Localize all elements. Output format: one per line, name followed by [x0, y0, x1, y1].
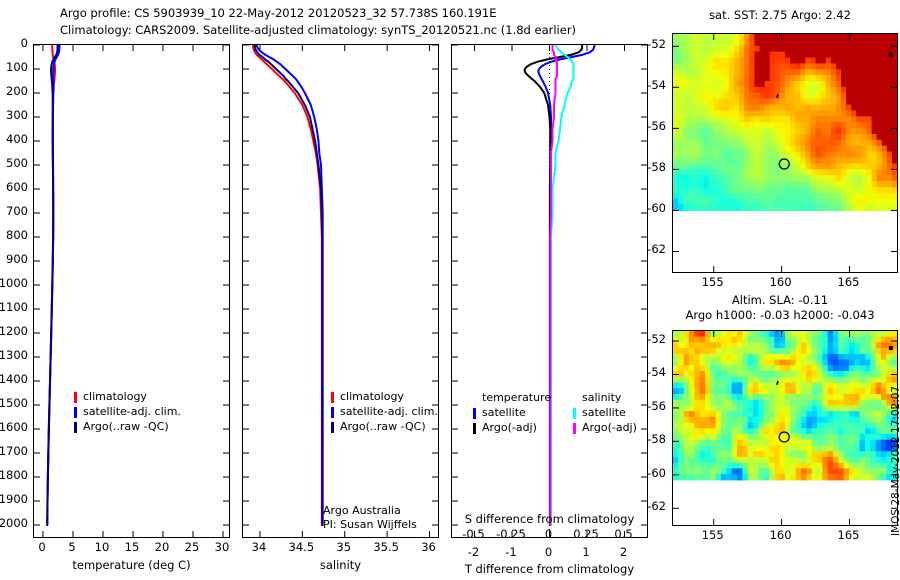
axis-tick-label: -0.5 [462, 527, 484, 541]
axis-tick-label: -2 [468, 545, 479, 559]
difference-temperature-legend-item: Argo(-adj) [473, 421, 551, 436]
legend-label: Argo(-adj) [482, 421, 537, 434]
sst-map-yaxis-ticklabels: -52-54-56-58-60-62 [636, 33, 670, 273]
page-title-line2: Climatology: CARS2009. Satellite-adjuste… [60, 23, 576, 37]
axis-tick-label: 160 [770, 275, 792, 289]
temperature-xaxis-ticklabels: 051015202530 [33, 540, 230, 556]
sla-map-lat-tick: -62 [647, 499, 666, 513]
legend-label: climatology [340, 390, 404, 403]
difference-salinity-legend-item: Argo(-adj) [573, 421, 621, 436]
axis-tick-label: 30 [215, 540, 230, 554]
axis-tick-label: 35 [336, 540, 351, 554]
depth-tick-label: 1300 [0, 348, 28, 362]
axis-tick-label: 0.5 [614, 527, 632, 541]
sst-map-lat-tick: -56 [647, 119, 666, 133]
sla-map-lat-tick: -52 [647, 332, 666, 346]
depth-tick-label: 1100 [0, 300, 28, 314]
salinity-profile-plot [243, 45, 438, 537]
legend-color-swatch [473, 423, 476, 434]
depth-tick-label: 1800 [0, 468, 28, 482]
difference-top-xaxis-label: S difference from climatology [441, 512, 658, 526]
depth-tick-label: 2000 [0, 516, 28, 530]
legend-color-swatch [74, 422, 77, 433]
depth-tick-label: 1700 [0, 444, 28, 458]
depth-tick-label: 1400 [0, 372, 28, 386]
axis-tick-label: 2 [620, 545, 627, 559]
legend-label: Argo(-adj) [582, 421, 637, 434]
difference-temperature-legend-item: satellite [473, 406, 551, 421]
sst-map-xaxis-ticklabels: 155160165 [672, 275, 898, 291]
sst-map-lat-tick: -52 [647, 37, 666, 51]
axis-tick-label: 25 [185, 540, 200, 554]
legend-color-swatch [473, 408, 476, 419]
sst-map-lat-tick: -62 [647, 242, 666, 256]
axis-tick-label: 1 [582, 545, 589, 559]
sla-map-title-line1: Altim. SLA: -0.11 [660, 293, 900, 307]
depth-tick-label: 200 [6, 84, 28, 98]
depth-tick-label: 1000 [0, 276, 28, 290]
axis-tick-label: 20 [155, 540, 170, 554]
legend-label: satellite [582, 406, 626, 419]
difference-bottom-xaxis-ticklabels: -2-1012 [451, 545, 648, 559]
temperature-profile-plot [34, 45, 229, 537]
difference-legend-salinity-header: salinity [582, 391, 621, 406]
page-title-line1: Argo profile: CS 5903939_10 22-May-2012 … [60, 6, 497, 20]
axis-tick-label: 160 [770, 528, 792, 542]
depth-axis-ticklabels: 0100200300400500600700800900100011001200… [0, 0, 32, 580]
axis-tick-label: 155 [702, 528, 724, 542]
sst-map-panel [672, 33, 898, 273]
temperature-profile-panel [33, 44, 230, 538]
legend-label: satellite [482, 406, 526, 419]
sla-map-lat-tick: -56 [647, 399, 666, 413]
axis-tick-label: 0 [38, 540, 45, 554]
sst-map-plot [673, 34, 897, 272]
sla-map-yaxis-ticklabels: -52-54-56-58-60-62 [636, 330, 670, 526]
depth-tick-label: 1900 [0, 492, 28, 506]
axis-tick-label: -0.25 [496, 527, 526, 541]
depth-tick-label: 500 [6, 156, 28, 170]
legend-label: Argo(..raw -QC) [340, 420, 426, 433]
imos-timestamp: IMOS 28-May-2012 17:02:07 [890, 386, 900, 536]
difference-salinity-legend-item: satellite [573, 406, 621, 421]
axis-tick-label: 36 [421, 540, 436, 554]
axis-tick-label: 165 [838, 275, 860, 289]
sla-map-lat-tick: -60 [647, 466, 666, 480]
legend-color-swatch [331, 407, 334, 418]
sla-map-xaxis-ticklabels: 155160165 [672, 528, 898, 544]
depth-tick-label: 1500 [0, 396, 28, 410]
axis-tick-label: 15 [125, 540, 140, 554]
axis-tick-label: 10 [95, 540, 110, 554]
depth-tick-label: 1600 [0, 420, 28, 434]
difference-profile-panel [451, 44, 648, 538]
difference-temperature-legend: temperaturesatelliteArgo(-adj) [473, 391, 551, 436]
sla-map-panel [672, 330, 898, 526]
legend-color-swatch [74, 407, 77, 418]
sst-map-title: sat. SST: 2.75 Argo: 2.42 [660, 8, 900, 22]
legend-label: satellite-adj. clim. [340, 405, 438, 418]
sla-map-plot [673, 331, 897, 525]
salinity-xaxis-ticklabels: 3434.53535.536 [242, 540, 439, 556]
legend-color-swatch [74, 392, 77, 403]
temperature-xaxis-label: temperature (deg C) [33, 558, 230, 572]
depth-tick-label: 600 [6, 180, 28, 194]
axis-tick-label: 0 [545, 545, 552, 559]
axis-tick-label: 155 [702, 275, 724, 289]
depth-tick-label: 100 [6, 60, 28, 74]
axis-tick-label: 34 [252, 540, 267, 554]
difference-profile-plot [452, 45, 647, 537]
sst-map-lat-tick: -60 [647, 201, 666, 215]
credit-argo-australia: Argo Australia [323, 504, 401, 517]
salinity-xaxis-label: salinity [242, 558, 439, 572]
sla-map-lat-tick: -58 [647, 432, 666, 446]
axis-tick-label: 35.5 [373, 540, 399, 554]
sla-map-title-line2: Argo h1000: -0.03 h2000: -0.043 [655, 308, 900, 322]
depth-tick-label: 0 [21, 36, 28, 50]
salinity-profile-panel [242, 44, 439, 538]
depth-tick-label: 300 [6, 108, 28, 122]
difference-top-xaxis-ticklabels: -0.5-0.2500.250.5 [451, 527, 648, 541]
depth-tick-label: 900 [6, 252, 28, 266]
legend-color-swatch [331, 422, 334, 433]
sla-map-lat-tick: -54 [647, 365, 666, 379]
depth-tick-label: 700 [6, 204, 28, 218]
legend-label: satellite-adj. clim. [83, 405, 181, 418]
legend-color-swatch [331, 392, 334, 403]
legend-color-swatch [573, 423, 576, 434]
legend-color-swatch [573, 408, 576, 419]
axis-tick-label: 165 [838, 528, 860, 542]
sst-map-lat-tick: -54 [647, 78, 666, 92]
axis-tick-label: 34.5 [289, 540, 315, 554]
depth-tick-label: 1200 [0, 324, 28, 338]
depth-tick-label: 800 [6, 228, 28, 242]
difference-legend-temperature-header: temperature [482, 391, 551, 406]
legend-label: climatology [83, 390, 147, 403]
axis-tick-label: 0.25 [573, 527, 599, 541]
difference-bottom-xaxis-label: T difference from climatology [441, 562, 658, 576]
depth-tick-label: 400 [6, 132, 28, 146]
sst-map-lat-tick: -58 [647, 160, 666, 174]
axis-tick-label: -1 [505, 545, 516, 559]
axis-tick-label: 5 [68, 540, 75, 554]
axis-tick-label: 0 [545, 527, 552, 541]
credit-pi: PI: Susan Wijffels [323, 518, 417, 531]
legend-label: Argo(..raw -QC) [83, 420, 169, 433]
difference-salinity-legend: salinitysatelliteArgo(-adj) [573, 391, 621, 436]
